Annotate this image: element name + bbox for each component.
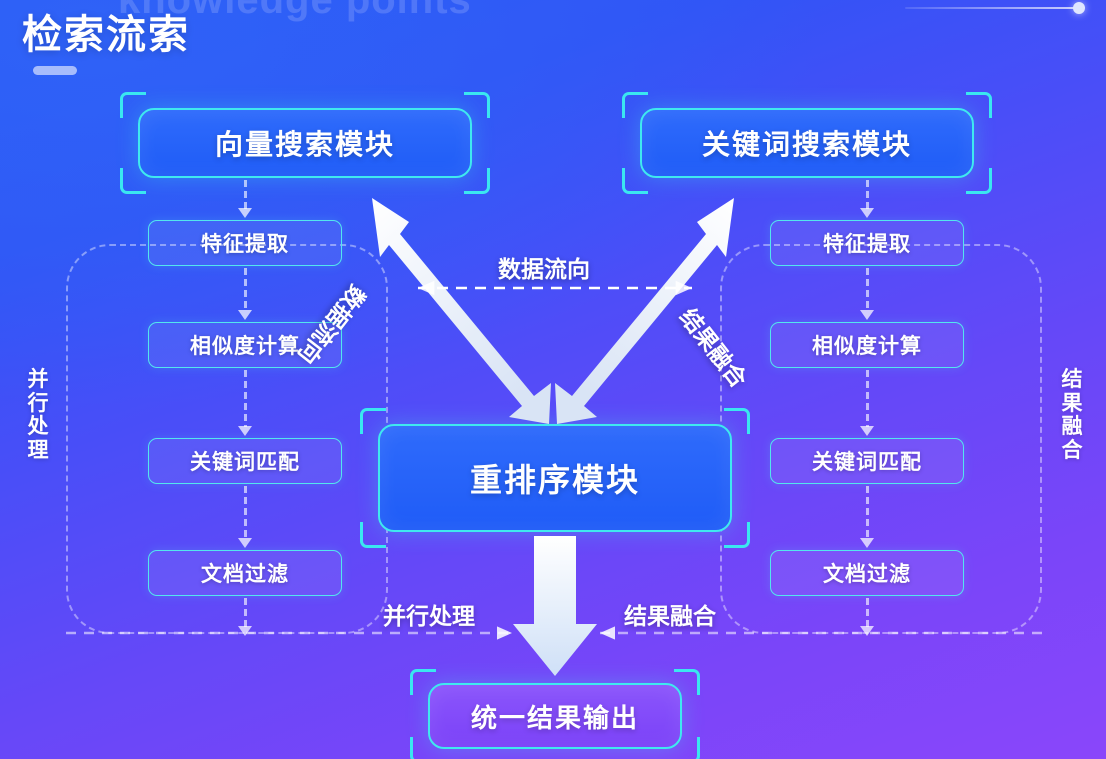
title-underbar [33, 66, 77, 75]
connector-arrow-icon [238, 180, 252, 218]
diagram-canvas: knowledge points 检索流索 并行处理 结果融合 向量搜索模块 关… [0, 0, 1106, 759]
module-unified-output[interactable]: 统一结果输出 [428, 683, 682, 749]
arrow-vector-to-rerank [372, 198, 551, 424]
step-right-2[interactable]: 相似度计算 [770, 322, 964, 368]
side-label-fusion: 结果融合 [1056, 368, 1088, 462]
label-dataflow-top: 数据流向 [498, 250, 590, 284]
module-vector-search[interactable]: 向量搜索模块 [138, 108, 472, 178]
module-rerank[interactable]: 重排序模块 [378, 424, 732, 532]
page-title: 检索流索 [22, 2, 190, 60]
arrow-rerank-to-output [513, 536, 597, 676]
step-right-3[interactable]: 关键词匹配 [770, 438, 964, 484]
top-progress-line [905, 7, 1083, 9]
module-keyword-search[interactable]: 关键词搜索模块 [640, 108, 974, 178]
label-parallel-bottom: 并行处理 [383, 597, 475, 631]
label-fusion-bottom: 结果融合 [624, 597, 716, 631]
step-right-1[interactable]: 特征提取 [770, 220, 964, 266]
connector-arrow-icon [860, 180, 874, 218]
step-left-1[interactable]: 特征提取 [148, 220, 342, 266]
step-right-4[interactable]: 文档过滤 [770, 550, 964, 596]
step-left-3[interactable]: 关键词匹配 [148, 438, 342, 484]
side-label-parallel: 并行处理 [22, 368, 54, 462]
top-progress-dot [1073, 2, 1085, 14]
step-left-4[interactable]: 文档过滤 [148, 550, 342, 596]
